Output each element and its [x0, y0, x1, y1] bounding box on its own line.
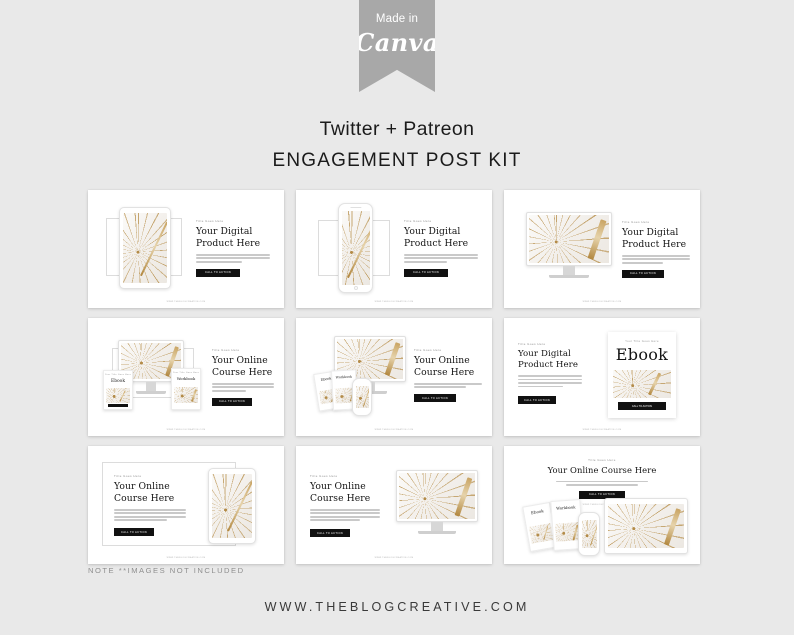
card-body-text [114, 509, 186, 521]
collage-laptop-mockup [604, 498, 688, 554]
card-body-text [556, 481, 648, 486]
phone-screen-image [342, 211, 370, 285]
card-body-text [310, 509, 380, 521]
monitor-screen-image [529, 215, 609, 263]
collage-phone-mockup [578, 512, 600, 556]
badge-canva-wordmark: Canva [355, 28, 439, 57]
card-eyebrow: Title Goes Here [196, 219, 270, 223]
phone-screen-image [582, 520, 597, 548]
card-eyebrow: Title Goes Here [310, 474, 380, 478]
laptop-screen-image [608, 504, 684, 548]
card-text-block: Title Goes Here Your Digital Product Her… [622, 220, 690, 278]
template-card-5[interactable]: Ebook Workbook Title Goes Here Your Onli… [296, 318, 492, 436]
monitor-stand-neck [431, 522, 442, 531]
poster-heading: Twitter + Patreon ENGAGEMENT POST KIT [0, 118, 794, 172]
made-in-canva-badge: Made in Canva [359, 0, 435, 92]
phone-mockup [338, 203, 373, 293]
poster-canvas: Made in Canva Twitter + Patreon ENGAGEME… [0, 0, 794, 635]
card-body-text [196, 254, 270, 263]
panel-title: Ebook [608, 345, 676, 364]
ebook-cover-mockup: Your Title Goes Here Ebook [103, 370, 133, 410]
card-body-text [414, 383, 482, 388]
card-body-text [622, 255, 690, 264]
card-heading: Your Digital Product Here [196, 226, 270, 249]
monitor-mockup [526, 212, 612, 278]
card-watermark: WWW.THEBLOGCREATIVE.COM [296, 301, 492, 303]
card-eyebrow: Title Goes Here [622, 220, 690, 224]
card-heading: Your Digital Product Here [404, 226, 478, 249]
card-cta-button[interactable]: CALL TO ACTION [114, 528, 154, 536]
workbook-cover-mockup: Your Title Goes Here Workbook [171, 368, 201, 410]
tablet-mockup [208, 468, 256, 544]
card-watermark: WWW.THEBLOGCREATIVE.COM [88, 429, 284, 431]
card-heading: Your Online Course Here [212, 355, 274, 378]
heading-line-1: Twitter + Patreon [0, 118, 794, 141]
cover-image [174, 387, 198, 402]
card-eyebrow: Title Goes Here [518, 342, 582, 346]
monitor-stand-base [418, 531, 456, 534]
card-heading: Your Online Course Here [414, 355, 482, 378]
card-text-block: Title Goes Here Your Online Course Here … [310, 474, 380, 537]
cover-title: Ebook [104, 379, 132, 384]
card-eyebrow: Title Goes Here [414, 348, 482, 352]
cover-eyebrow: Your Title Goes Here [172, 372, 200, 374]
card-cta-button[interactable]: CALL TO ACTION [196, 269, 240, 277]
cover-title: Workbook [552, 504, 580, 511]
phone-screen-image [356, 386, 369, 408]
ebook-panel-mockup: Your Title Goes Here Ebook CALL TO ACTIO… [608, 332, 676, 418]
phone-mockup [352, 378, 372, 416]
card-watermark: WWW.THEBLOGCREATIVE.COM [504, 301, 700, 303]
card-watermark: WWW.THEBLOGCREATIVE.COM [504, 429, 700, 431]
card-heading: Your Online Course Here [528, 465, 676, 477]
card-watermark: WWW.THEBLOGCREATIVE.COM [296, 429, 492, 431]
monitor-stand-neck [146, 382, 155, 391]
card-heading: Your Online Course Here [114, 481, 186, 504]
template-card-7[interactable]: Title Goes Here Your Online Course Here … [88, 446, 284, 564]
card-cta-button[interactable]: CALL TO ACTION [518, 396, 556, 404]
card-watermark: WWW.THEBLOGCREATIVE.COM [88, 557, 284, 559]
badge-made-in-label: Made in [376, 13, 418, 25]
card-cta-button[interactable]: CALL TO ACTION [414, 394, 456, 402]
phone-speaker [350, 207, 361, 208]
tablet-screen-image [212, 474, 252, 538]
panel-cta-button[interactable]: CALL TO ACTION [618, 402, 667, 410]
template-card-3[interactable]: Title Goes Here Your Digital Product Her… [504, 190, 700, 308]
footer-website-url: WWW.THEBLOGCREATIVE.COM [0, 600, 794, 614]
cover-cta-bar [108, 404, 127, 406]
card-cta-button[interactable]: CALL TO ACTION [212, 398, 252, 406]
card-text-block: Title Goes Here Your Digital Product Her… [518, 342, 582, 404]
card-heading: Your Online Course Here [310, 481, 380, 504]
cover-eyebrow: Your Title Goes Here [104, 374, 132, 376]
card-body-text [404, 254, 478, 263]
template-preview-grid: Title Goes Here Your Digital Product Her… [88, 190, 706, 564]
template-card-2[interactable]: Title Goes Here Your Digital Product Her… [296, 190, 492, 308]
template-card-1[interactable]: Title Goes Here Your Digital Product Her… [88, 190, 284, 308]
monitor-screen-image [399, 473, 475, 519]
cover-image [555, 522, 580, 542]
card-eyebrow: Title Goes Here [528, 458, 676, 462]
card-watermark: WWW.THEBLOGCREATIVE.COM [88, 301, 284, 303]
panel-eyebrow: Your Title Goes Here [608, 339, 676, 343]
card-text-block: Title Goes Here Your Digital Product Her… [196, 219, 270, 277]
monitor-stand-neck [563, 266, 575, 275]
card-eyebrow: Title Goes Here [114, 474, 186, 478]
template-card-4[interactable]: Your Title Goes Here Ebook Your Title Go… [88, 318, 284, 436]
card-cta-button[interactable]: CALL TO ACTION [404, 269, 448, 277]
card-heading: Your Digital Product Here [622, 227, 690, 250]
card-heading: Your Digital Product Here [518, 349, 582, 370]
phone-home-button [354, 286, 358, 290]
heading-line-2: ENGAGEMENT POST KIT [0, 150, 794, 172]
template-card-9[interactable]: Title Goes Here Your Online Course Here … [504, 446, 700, 564]
cover-title: Workbook [332, 374, 355, 379]
images-not-included-note: NOTE **IMAGES NOT INCLUDED [88, 566, 245, 575]
card-cta-button[interactable]: CALL TO ACTION [622, 270, 664, 278]
tablet-screen-image [123, 213, 167, 283]
cover-title: Workbook [172, 377, 200, 381]
cover-image [106, 388, 130, 402]
card-watermark: WWW.THEBLOGCREATIVE.COM [296, 557, 492, 559]
cover-image [529, 523, 554, 543]
panel-image [613, 370, 670, 398]
template-card-8[interactable]: Title Goes Here Your Online Course Here … [296, 446, 492, 564]
card-text-block: Title Goes Here Your Online Course Here … [414, 348, 482, 402]
monitor-stand-base [136, 391, 166, 394]
card-text-block: Title Goes Here Your Online Course Here … [212, 348, 274, 406]
card-body-text [518, 375, 582, 387]
monitor-mockup [396, 470, 478, 534]
card-body-text [212, 383, 274, 392]
tablet-mockup [119, 207, 171, 289]
template-card-6[interactable]: Title Goes Here Your Digital Product Her… [504, 318, 700, 436]
card-text-block: Title Goes Here Your Digital Product Her… [404, 219, 478, 277]
card-eyebrow: Title Goes Here [212, 348, 274, 352]
card-cta-button[interactable]: CALL TO ACTION [310, 529, 350, 537]
cover-title: Ebook [524, 507, 550, 516]
card-text-block: Title Goes Here Your Online Course Here … [114, 474, 186, 536]
card-eyebrow: Title Goes Here [404, 219, 478, 223]
monitor-stand-base [549, 275, 589, 278]
